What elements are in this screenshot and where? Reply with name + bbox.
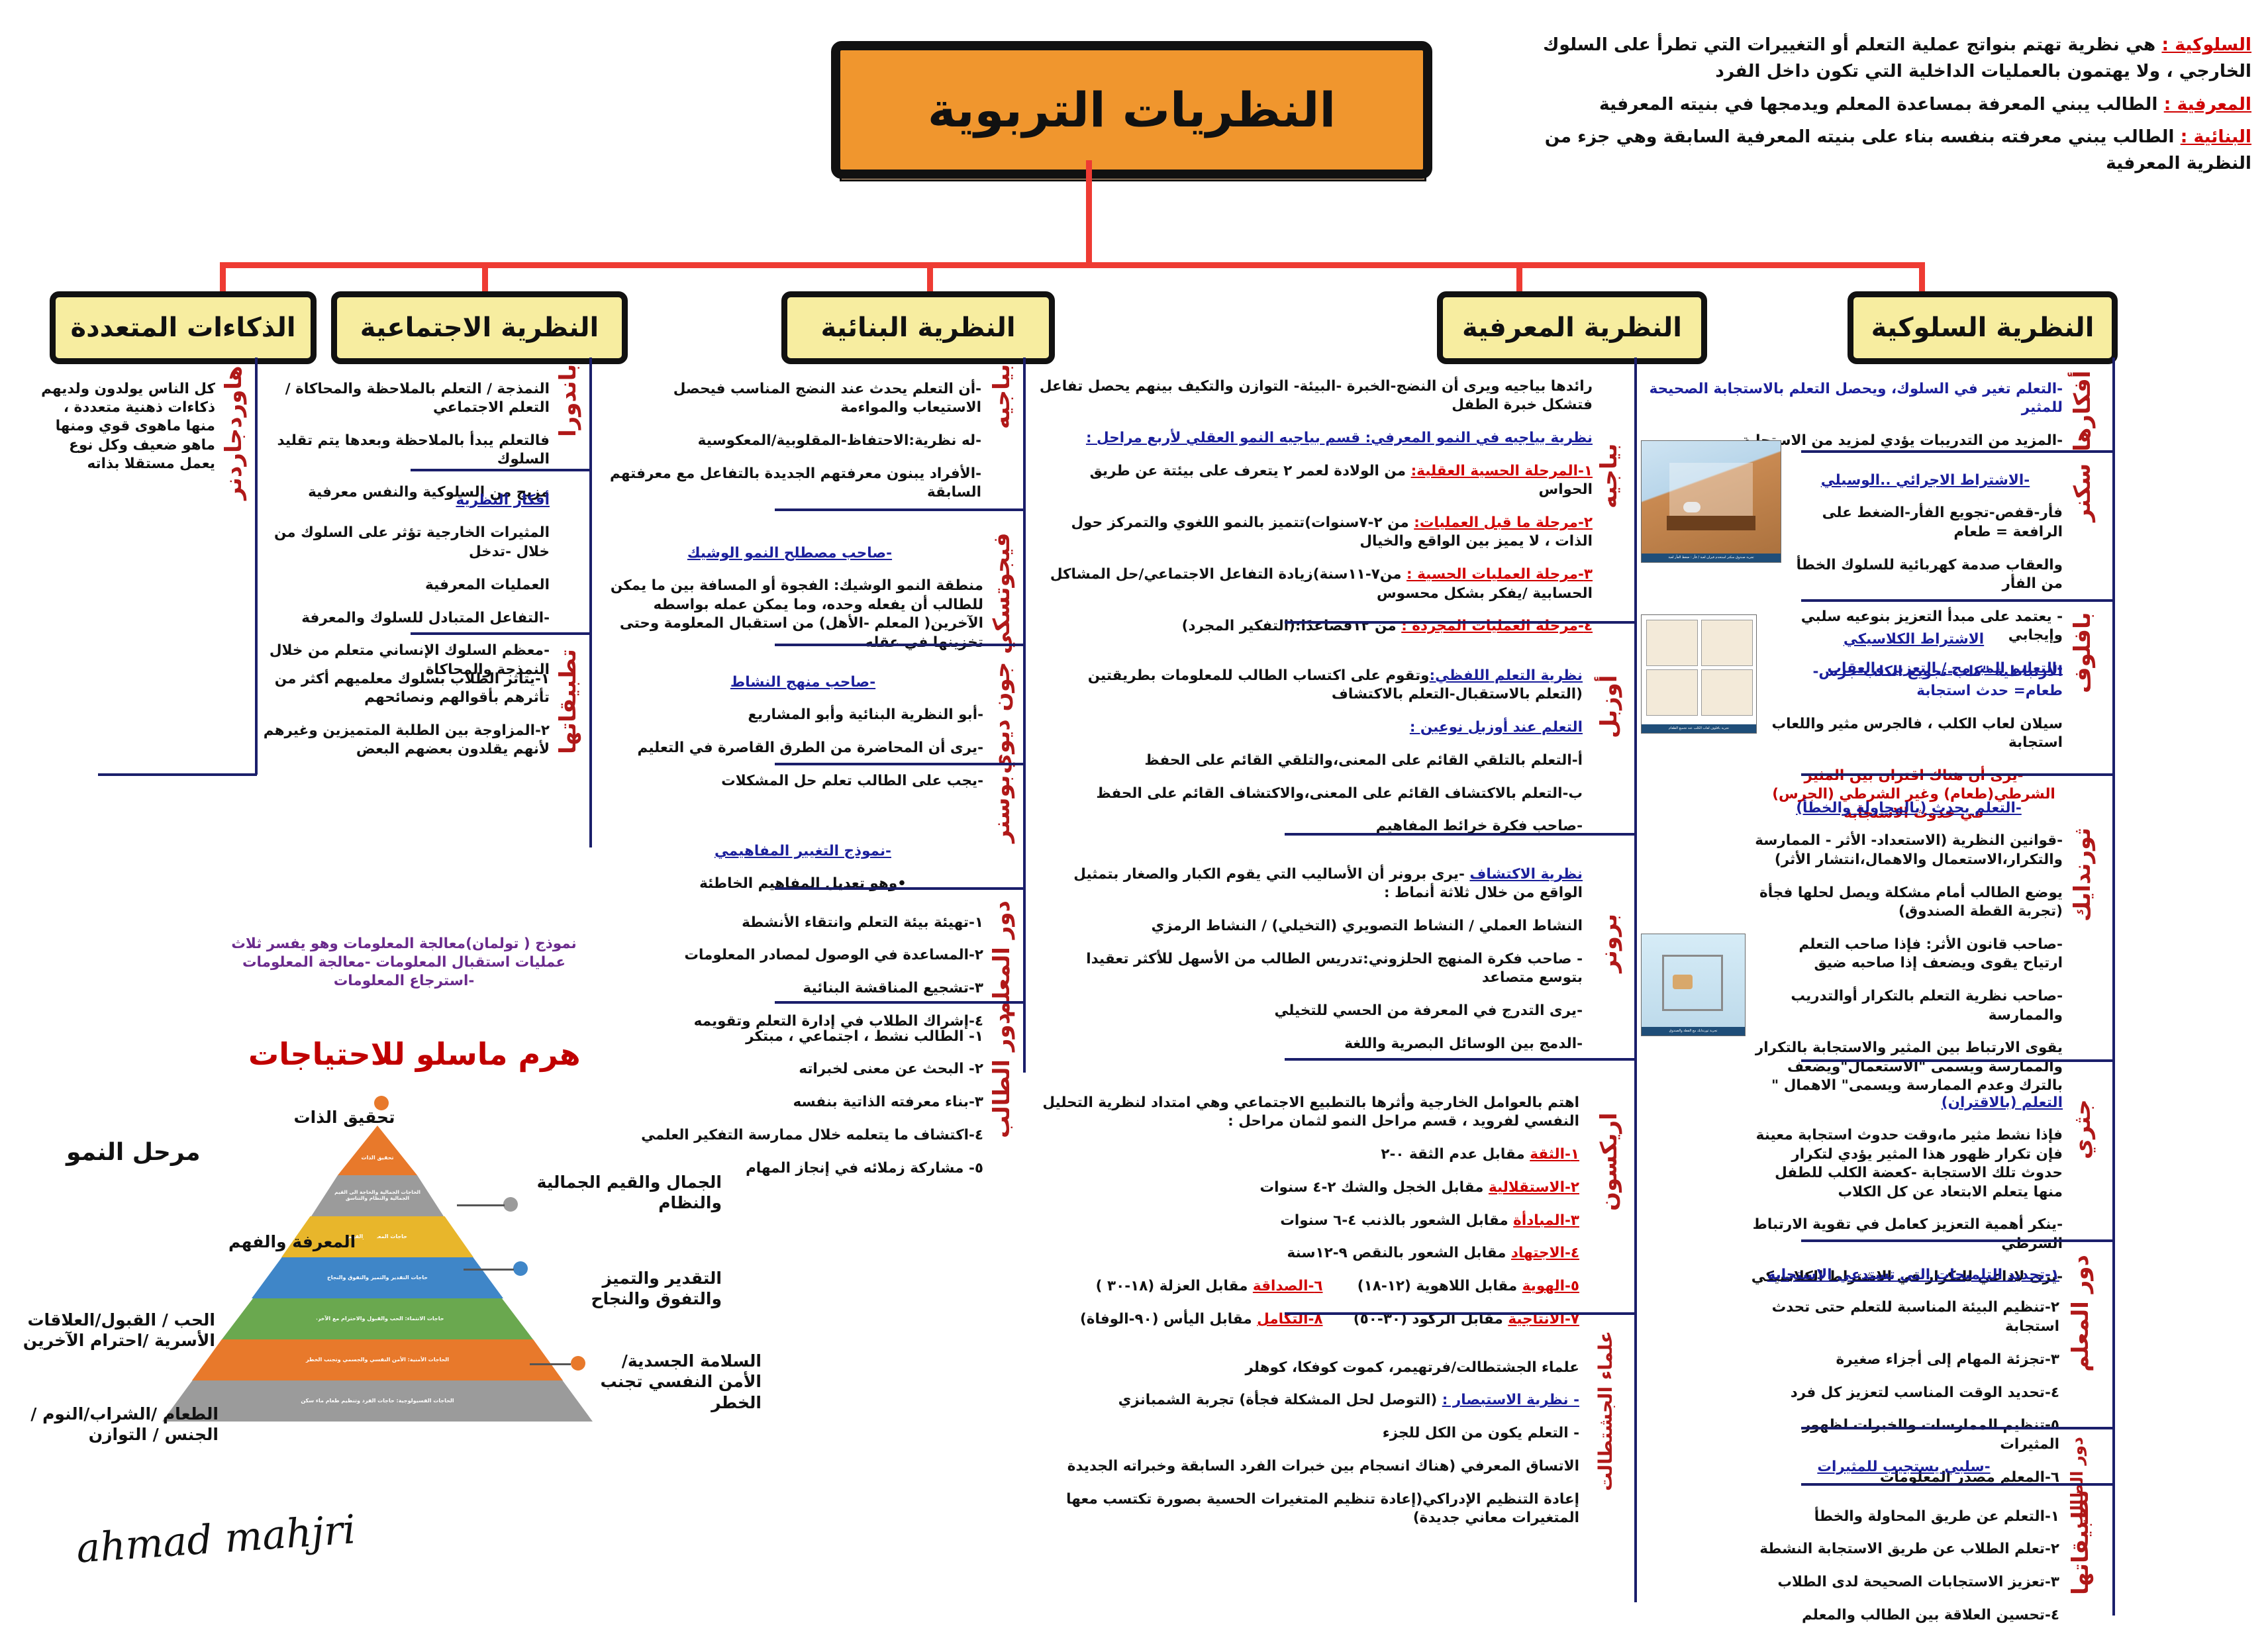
multiple-intelligences-text: كل الناس يولدون ولديهم ذكاءات ذهنية متعد… xyxy=(40,365,215,488)
intro-text-cognitive: الطالب يبني المعرفة بمساعدة المعلم ويدمج… xyxy=(1599,94,2158,115)
maslow-dot-4 xyxy=(513,1261,528,1276)
skinner-thumb-caption: تجربة صندوق سكنر استخدم فيران لعبة / فأر… xyxy=(1642,554,1781,562)
beh-app-item-3: ٣-تعزيز الاستجابات الصحيحة لدى الطلاب xyxy=(1777,1574,2059,1590)
behaviorist-divider-7 xyxy=(1801,1483,2112,1486)
maslow-title: هرم ماسلو للاحتياجات xyxy=(248,1036,581,1072)
constructivist-column-rule xyxy=(1023,358,1026,1073)
maslow-dot-3 xyxy=(363,1229,377,1243)
intro-key-cognitive: المعرفية : xyxy=(2164,94,2251,115)
bruner-heading: نظرية الاكتشاف xyxy=(1469,866,1583,883)
maslow-level-5: حاجات الانتماء: الحب والقبول والاحترام م… xyxy=(222,1298,533,1339)
erikson-stage2-key: ٢-الاستقلالية xyxy=(1489,1179,1579,1196)
guthrie-heading: التعلم (بالاقتران) xyxy=(1942,1094,2063,1111)
gestalt-val2: (التوصل لحل المشكلة فجأة) تجربة الشمبانز… xyxy=(1118,1392,1438,1408)
ausubel-val3: أ-التعلم بالتلقي القائم على المعنى،والتل… xyxy=(1144,752,1583,769)
bruner-line4: -يرى التدرج في المعرفة من الحسي للتخيلي xyxy=(1275,1002,1583,1019)
connector-horizontal-bus xyxy=(220,262,1922,268)
intro-text-constructivist: الطالب يبني معرفته بنفسه بناء على بنيته … xyxy=(1545,126,2251,173)
social-column-rule xyxy=(589,358,592,847)
bandura-line1: النمذجة / التعلم بالملاحظة والمحاكاة / ا… xyxy=(285,381,550,416)
social-divider-1 xyxy=(411,469,591,471)
behaviorist-section-label-applications: تطبيقاتها xyxy=(2067,1490,2094,1632)
ausubel-val5: -صاحب فكرة خرائط المفاهيم xyxy=(1376,818,1583,834)
maslow-level-2: الحاجات الجمالية والحاجة الى القيم الجما… xyxy=(311,1175,444,1216)
behaviorist-divider-2 xyxy=(1801,599,2112,602)
erikson-stage6-val: مقابل العزلة (١٨-٣٠ ) xyxy=(1096,1278,1248,1294)
cons-student-item-3: ٣-بناء معرفته الذاتية بنفسه xyxy=(793,1094,984,1110)
constructivist-section-label-piaget: بياجيه xyxy=(989,364,1015,463)
beh-teacher-item-4: ٤-تحديد الوقت المناسب لتعزيز كل فرد xyxy=(1791,1384,2059,1401)
gestalt-key1: علماء الجشتطالت/ xyxy=(1451,1359,1579,1376)
thorndike-thumb-caption: تجربة ثورندايك مع القطة والصندوق xyxy=(1642,1027,1745,1036)
maslow-level-5-inner: حاجات الانتماء: الحب والقبول والاحترام م… xyxy=(271,1316,483,1322)
constructivist-section-label-dewey: جون ديوي xyxy=(989,662,1015,771)
pavlov-heading: الاشتراط الكلاسيكي xyxy=(1844,631,1984,648)
piaget-stage2-key: ٢-مرحلة ما قبل العمليات: xyxy=(1414,514,1593,531)
growth-stages-label: مرحل النمو xyxy=(66,1139,201,1166)
social-section-label-bandura: باندورا xyxy=(555,364,581,477)
cognitive-erikson-text: اهتم بالعوامل الخارجية وأثرها بالتطبيع ا… xyxy=(1040,1079,1579,1343)
social-ideas-heading: أفكار النظرية xyxy=(456,492,550,508)
piaget-stage1-key: ١-المرحلة الحسية العقلية: xyxy=(1411,463,1593,479)
behaviorist-section-label-thorndike: ثورندايك xyxy=(2069,828,2096,1000)
cognitive-column-rule xyxy=(1634,358,1637,1602)
constructivist-piaget-text: -أن التعلم يحدث عند النضج المناسب فيحصل … xyxy=(604,365,981,516)
page-title-text: النظريات التربوية xyxy=(928,82,1336,138)
guthrie-line2: -ينكر أهمية التعزيز كعامل في تقوية الارت… xyxy=(1753,1216,2063,1251)
connector-to-behaviorist xyxy=(1919,262,1925,295)
piaget-intro: رائدها بياجيه ويرى أن النضج-الخبرة -البي… xyxy=(1040,378,1593,413)
maslow-callout-7: الطعام /الشراب/النوم / الجنس / التوازن xyxy=(20,1404,219,1445)
header-constructivist-theory[interactable]: النظرية البنائية xyxy=(781,291,1055,364)
vygotsky-line1: منطقة النمو الوشيك: الفجوة أو المسافة بي… xyxy=(611,577,983,650)
behaviorist-section-label-teacher-role: دور المعلم xyxy=(2067,1255,2094,1427)
maslow-dot-2 xyxy=(503,1197,518,1212)
erikson-stage5-val: مقابل اللاهوية (١٢-١٨) xyxy=(1357,1278,1517,1294)
constructivist-posner-text: -نموذج التغيير المفاهيمي •وهو تعديل المف… xyxy=(622,828,983,908)
thorndike-line3: -صاحب قانون الأثر: فإذا صاحب التعلم ارتي… xyxy=(1799,936,2063,971)
cons-piaget-line3: -الأفراد يبنون معرفتهم الجديدة بالتفاعل … xyxy=(610,465,981,501)
header-label-cognitive: النظرية المعرفية xyxy=(1462,313,1682,343)
social-ideas-line3: -التفاعل المتبادل للسلوك والمعرفة xyxy=(301,610,550,626)
cognitive-section-label-gestalt: علماء الجشتطالت xyxy=(1595,1331,1616,1596)
constructivist-section-label-teacher-role: دور المعلم xyxy=(989,900,1015,1026)
cognitive-gestalt-text: علماء الجشتطالت/فرتهيمر، كموت كوفكا، كوه… xyxy=(1040,1344,1579,1542)
maslow-level-6: الحاجات الأمنية: الأمن النفسي والجسمي وت… xyxy=(192,1339,563,1380)
gestalt-val5: إعادة التنظيم الإدراكي(إعادة تنظيم المتغ… xyxy=(1066,1491,1579,1526)
behaviorist-divider-5 xyxy=(1801,1239,2112,1242)
multiple-section-label-gardner: هاوردجاردنر xyxy=(221,365,247,491)
pavlov-line2: سيلان لعاب الكلب ، فالجرس مثير واللعاب ا… xyxy=(1772,716,2063,751)
bandura-line2: فالتعلم يبدأ بالملاحظة وبعدها يتم تقليد … xyxy=(277,432,550,467)
beh-app-item-4: ٤-تحسين العلاقة بين الطالب والمعلم xyxy=(1802,1607,2059,1623)
gardner-line1: كل الناس يولدون ولديهم ذكاءات ذهنية متعد… xyxy=(41,381,215,473)
page-title: النظريات التربوية xyxy=(831,41,1432,179)
dewey-line3: -يجب على الطالب تعلم حل المشكلات xyxy=(721,773,983,789)
header-social-theory[interactable]: النظرية الاجتماعية xyxy=(331,291,628,364)
bruner-line3: - صاحب فكرة المنهج الحلزوني:تدريس الطالب… xyxy=(1086,951,1583,986)
thorndike-heading: -التعلم يحدث (بالمحاولة والخطأ) xyxy=(1796,800,2022,816)
maslow-level-7: الحاجات الفسيولوجية: حاجات الفرد وتنظيم … xyxy=(162,1380,593,1422)
maslow-level-6-inner: الحاجات الأمنية: الأمن النفسي والجسمي وت… xyxy=(245,1357,510,1363)
constructivist-divider-2 xyxy=(775,644,1025,646)
cognitive-divider-2 xyxy=(1285,833,1636,836)
connector-to-social xyxy=(482,262,488,295)
header-behaviorist-theory[interactable]: النظرية السلوكية xyxy=(1848,291,2118,364)
intro-line-behaviorist: السلوكية : هي نظرية تهتم بنواتج عملية ال… xyxy=(1516,32,2251,85)
gestalt-val1: فرتهيمر، كموت كوفكا، كوهلر xyxy=(1246,1359,1452,1376)
constructivist-divider-1 xyxy=(775,508,1025,511)
multiple-divider-bottom xyxy=(98,773,257,776)
maslow-level-4-inner: حاجات التقدير والتميز والتفوق والنجاح xyxy=(291,1275,464,1280)
behaviorist-divider-6 xyxy=(1801,1427,2112,1429)
maslow-callout-5: الحب / القبول/العلاقات الأسرية /احترام ا… xyxy=(17,1310,215,1351)
header-label-multiple: الذكاءات المتعددة xyxy=(70,313,295,343)
social-ideas-line2: العمليات المعرفية xyxy=(425,577,550,593)
guthrie-line1: فإذا نشط مثير ما،وقت حدوث استجابة معينة … xyxy=(1756,1127,2063,1200)
bruner-line2: النشاط العملي / النشاط التصويري (التخيلي… xyxy=(1151,918,1583,934)
connector-to-constructivist xyxy=(927,262,933,295)
multiple-column-rule xyxy=(255,358,258,775)
erikson-stage2-val: مقابل الخجل والشك ٢-٤ سنوات xyxy=(1260,1179,1484,1196)
constructivist-divider-4 xyxy=(775,887,1025,890)
cons-teacher-item-2: ٢-المساعدة في الوصول لمصادر المعلومات xyxy=(684,947,983,963)
intro-line-cognitive: المعرفية : الطالب يبني المعرفة بمساعدة ا… xyxy=(1516,91,2251,118)
behaviorist-divider-1 xyxy=(1801,450,2112,453)
cognitive-ausubel-text: نظرية التعلم اللفظي:وتقوم على اكتساب الط… xyxy=(1060,652,1583,850)
header-label-behaviorist: النظرية السلوكية xyxy=(1871,313,2095,343)
beh-student-item-1: -سلبي يستجيب للمثيرات xyxy=(1817,1459,1990,1475)
social-ideas-line1: المثيرات الخارجية تؤثر على السلوك من خلا… xyxy=(274,524,550,559)
beh-app-item-2: ٢-تعلم الطلاب عن طريق الاستجابة النشطة xyxy=(1759,1541,2059,1557)
behaviorist-ideas-line1: -التعلم تغير في السلوك، ويحصل التعلم بال… xyxy=(1650,381,2063,416)
pavlov-line1: الارتباطية "كلب-تجويع الكلب-جرس-طعام= حد… xyxy=(1812,663,2063,699)
cognitive-section-label-erikson: اريكسون xyxy=(1596,1112,1622,1304)
erikson-stage8-val: مقابل اليأس (٩٠-الوفاة) xyxy=(1080,1311,1252,1328)
erikson-stage3-key: ٣-المبادأة xyxy=(1513,1212,1579,1229)
maslow-leader-4 xyxy=(464,1269,514,1271)
posner-heading: -نموذج التغيير المفاهيمي xyxy=(715,843,891,859)
erikson-stage4-key: ٤-الاجتهاد xyxy=(1511,1245,1579,1261)
beh-teacher-item-1: ١-تحديد التلميحات التي تستدعي الاستجابة xyxy=(1767,1267,2059,1283)
gestalt-val4: الاتساق المعرفي (هناك انسجام بين خبرات ا… xyxy=(1067,1458,1579,1474)
thorndike-line4: -صاحب نظرية التعلم بالتكرار أوالتدريب وا… xyxy=(1791,988,2063,1023)
maslow-level-1-inner: تحقيق الذات xyxy=(362,1155,394,1161)
cognitive-bruner-text: نظرية الاكتشاف -يرى برونر أن الأساليب ال… xyxy=(1043,851,1583,1068)
dewey-heading: -صاحب منهج النشاط xyxy=(730,674,875,691)
constructivist-section-label-posner: بوسنر xyxy=(989,775,1015,874)
behaviorist-section-label-pavlov: بافلوف xyxy=(2069,612,2096,755)
cognitive-divider-1 xyxy=(1285,621,1636,624)
cognitive-piaget-text: رائدها بياجيه ويرى أن النضج-الخبرة -البي… xyxy=(1033,363,1593,650)
erikson-stage1-key: ١-الثقة xyxy=(1530,1146,1579,1163)
maslow-level-2-inner: الحاجات الجمالية والحاجة الى القيم الجما… xyxy=(334,1190,420,1201)
cognitive-section-label-piaget: بياجيه xyxy=(1596,444,1622,576)
social-section-label-applications: تطبيقاتها xyxy=(555,649,581,775)
piaget-stage3-key: ٣-مرحلة العمليات الحسية : xyxy=(1406,566,1593,583)
pavlov-thumb-caption: تجربة بافلوف لعاب الكلب عند تجميع الطعام xyxy=(1642,724,1756,733)
dewey-line2: -يرى أن المحاضرة من الطرق القاصرة في الت… xyxy=(637,740,983,756)
cognitive-divider-4 xyxy=(1285,1312,1636,1315)
pavlov-dog-thumbnail: تجربة بافلوف لعاب الكلب عند تجميع الطعام xyxy=(1641,614,1757,734)
maslow-level-1: تحقيق الذات xyxy=(338,1126,417,1175)
intro-key-constructivist: البنائية : xyxy=(2181,126,2251,147)
maslow-callout-3: المعرفة والفهم xyxy=(228,1231,420,1252)
header-cognitive-theory[interactable]: النظرية المعرفية xyxy=(1437,291,1707,364)
maslow-dot-1 xyxy=(374,1096,389,1110)
intro-text-behaviorist: هي نظرية تهتم بنواتج عملية التعلم أو الت… xyxy=(1543,34,2251,81)
behaviorist-section-label-skinner: سكنر xyxy=(2069,463,2096,596)
cognitive-divider-3 xyxy=(1285,1058,1636,1061)
erikson-stage6-key: ٦-الصداقة xyxy=(1253,1278,1323,1294)
erikson-stage3-val: مقابل الشعور بالذنب ٤-٦ سنوات xyxy=(1280,1212,1508,1229)
erikson-stage5-key: ٥-الهوية xyxy=(1522,1278,1579,1294)
thorndike-line2: يوضع الطالب أمام مشكلة ويصل لحلها فجأة (… xyxy=(1759,885,2063,920)
header-label-constructivist: النظرية البنائية xyxy=(820,313,1015,343)
cons-student-item-5: ٥- مشاركة زملائه في إنجاز المهام xyxy=(746,1160,983,1177)
social-tolman-note-text: نموذج ( تولمان)معالجة المعلومات وهو يفسر… xyxy=(231,936,576,990)
skinner-box-thumbnail: تجربة صندوق سكنر استخدم فيران لعبة / فأر… xyxy=(1641,440,1781,563)
cons-student-item-2: ٢- البحث عن معنى لخبراته xyxy=(799,1061,983,1077)
connector-to-multiple xyxy=(220,262,226,295)
maslow-dot-5 xyxy=(305,1318,319,1332)
author-signature: ahmad mahjri xyxy=(75,1506,357,1572)
skinner-heading: -الاشتراط الاجرائي ..الوسيلي xyxy=(1821,472,2030,489)
behaviorist-divider-4 xyxy=(1801,1059,2112,1062)
maslow-callout-4: التقدير والتميز والتفوق والنجاح xyxy=(556,1268,722,1310)
ausubel-key1: نظرية التعلم اللفظي: xyxy=(1430,667,1583,684)
header-multiple-intelligences[interactable]: الذكاءات المتعددة xyxy=(50,291,317,364)
maslow-dot-6 xyxy=(571,1356,585,1371)
intro-key-behaviorist: السلوكية : xyxy=(2161,34,2251,55)
gestalt-key2: - نظرية الاستبصار : xyxy=(1442,1392,1579,1408)
behaviorist-divider-3 xyxy=(1801,773,2112,776)
cons-teacher-item-3: ٣-تشجيع المناقشة البنائية xyxy=(803,980,983,996)
maslow-callout-2: الجمال والقيم الجمالية والنظام xyxy=(523,1172,722,1214)
constructivist-section-label-student-role: دور الطالب xyxy=(989,1013,1015,1152)
cognitive-section-label-bruner: برونر xyxy=(1596,914,1622,1030)
skinner-line1: فأر-قفص-تجويع الفأر-الضغط على الرافعة = … xyxy=(1822,505,2063,540)
intro-line-constructivist: البنائية : الطالب يبني معرفته بنفسه بناء… xyxy=(1516,124,2251,177)
cons-student-item-4: ٤-اكتشاف ما يتعلمه خلال ممارسة التفكير ا… xyxy=(641,1127,983,1143)
beh-teacher-item-2: ٢-تنظيم البيئة المناسبة للتعلم حتى تحدث … xyxy=(1772,1299,2059,1334)
dewey-line1: -أبو النظرية البنائية وأبو المشاريع xyxy=(748,706,983,723)
maslow-level-7-inner: الحاجات الفسيولوجية: حاجات الفرد وتنظيم … xyxy=(225,1398,530,1404)
social-app-item-1: ١-يتأثر الطلاب بسلوك معلميهم أكثر من تأث… xyxy=(275,671,550,706)
piaget-sub: نظرية بياجيه في النمو المعرفي: قسم بياجي… xyxy=(1086,430,1593,446)
thorndike-puzzlebox-thumbnail: تجربة ثورندايك مع القطة والصندوق xyxy=(1641,934,1746,1036)
maslow-callout-1: تحقيق الذات xyxy=(262,1107,427,1128)
ausubel-key2: التعلم عند أوزبل نوعين : xyxy=(1410,719,1583,736)
social-tolman-note: نموذج ( تولمان)معالجة المعلومات وهو يفسر… xyxy=(219,920,589,1005)
erikson-stage1-val: مقابل عدم الثقة ٠-٢ xyxy=(1381,1146,1524,1163)
behaviorist-column-rule xyxy=(2112,358,2115,1616)
beh-teacher-item-3: ٣-تجزئة المهام إلى أجزاء صغيرة xyxy=(1836,1351,2059,1368)
constructivist-student-role-list: ١- الطالب نشط ، اجتماعي ، مبتكر ٢- البحث… xyxy=(622,1013,983,1192)
behaviorist-section-label-guthrie: جثري xyxy=(2069,1099,2096,1228)
social-applications-list: ١-يتأثر الطلاب بسلوك معلميهم أكثر من تأث… xyxy=(262,655,550,773)
social-app-item-2: ٢-المزاوجة بين الطلبة المتميزين وغيرهم ل… xyxy=(264,722,550,757)
cognitive-section-label-ausubel: أوزبل xyxy=(1596,675,1622,791)
cons-piaget-line2: -له نظرية:الاحتفاظ-المقلوبية/المعكوسية xyxy=(698,432,981,449)
gestalt-val3: - التعلم يكون من الكل للجزء xyxy=(1383,1425,1579,1441)
bruner-line5: -الدمج بين الوسائل البصرية واللغة xyxy=(1344,1036,1583,1052)
skinner-line2: والعقاب صدمة كهربائية للسلوك الخطأ من ال… xyxy=(1797,557,2063,592)
behaviorist-applications-list: ١-التعلم عن طريق المحاولة والخطأ ٢-تعلم … xyxy=(1748,1493,2059,1639)
maslow-leader-2 xyxy=(457,1204,505,1206)
intro-definitions: السلوكية : هي نظرية تهتم بنواتج عملية ال… xyxy=(1516,32,2251,183)
constructivist-divider-5 xyxy=(775,1001,1025,1004)
connector-to-cognitive xyxy=(1516,262,1522,295)
maslow-callout-6: السلامة الجسدية/ الأمن النفسي تجنب الخطر xyxy=(596,1351,762,1413)
maslow-leader-6 xyxy=(530,1363,571,1365)
erikson-stage4-val: مقابل الشعور بالنقص ٩-١٢سنة xyxy=(1287,1245,1506,1261)
ausubel-val4: ب-التعلم بالاكتشاف القائم على المعنى،وال… xyxy=(1096,785,1583,802)
thorndike-line1: -قوانين النظرية (الاستعداد- الأثر - المم… xyxy=(1755,832,2063,867)
social-divider-2 xyxy=(411,632,591,635)
erikson-intro: اهتم بالعوامل الخارجية وأثرها بالتطبيع ا… xyxy=(1042,1094,1579,1130)
header-label-social: النظرية الاجتماعية xyxy=(360,313,599,343)
vygotsky-heading: -صاحب مصطلح النمو الوشيك xyxy=(687,545,892,561)
cons-piaget-line1: -أن التعلم يحدث عند النضج المناسب فيحصل … xyxy=(673,381,981,416)
constructivist-divider-3 xyxy=(775,763,1025,765)
behaviorist-ideas-line2: -المزيد من التدريبات يؤدي لمزيد من الاست… xyxy=(1742,432,2063,449)
cons-student-item-1: ١- الطالب نشط ، اجتماعي ، مبتكر xyxy=(746,1028,983,1045)
constructivist-dewey-text: -صاحب منهج النشاط -أبو النظرية البنائية … xyxy=(622,659,983,805)
maslow-level-4: حاجات التقدير والتميز والتفوق والنجاح xyxy=(252,1257,503,1298)
connector-title-down xyxy=(1086,160,1092,266)
beh-app-item-1: ١-التعلم عن طريق المحاولة والخطأ xyxy=(1814,1508,2059,1525)
cons-teacher-item-1: ١-تهيئة بيئة التعلم وانتقاء الأنشطة xyxy=(742,914,983,931)
